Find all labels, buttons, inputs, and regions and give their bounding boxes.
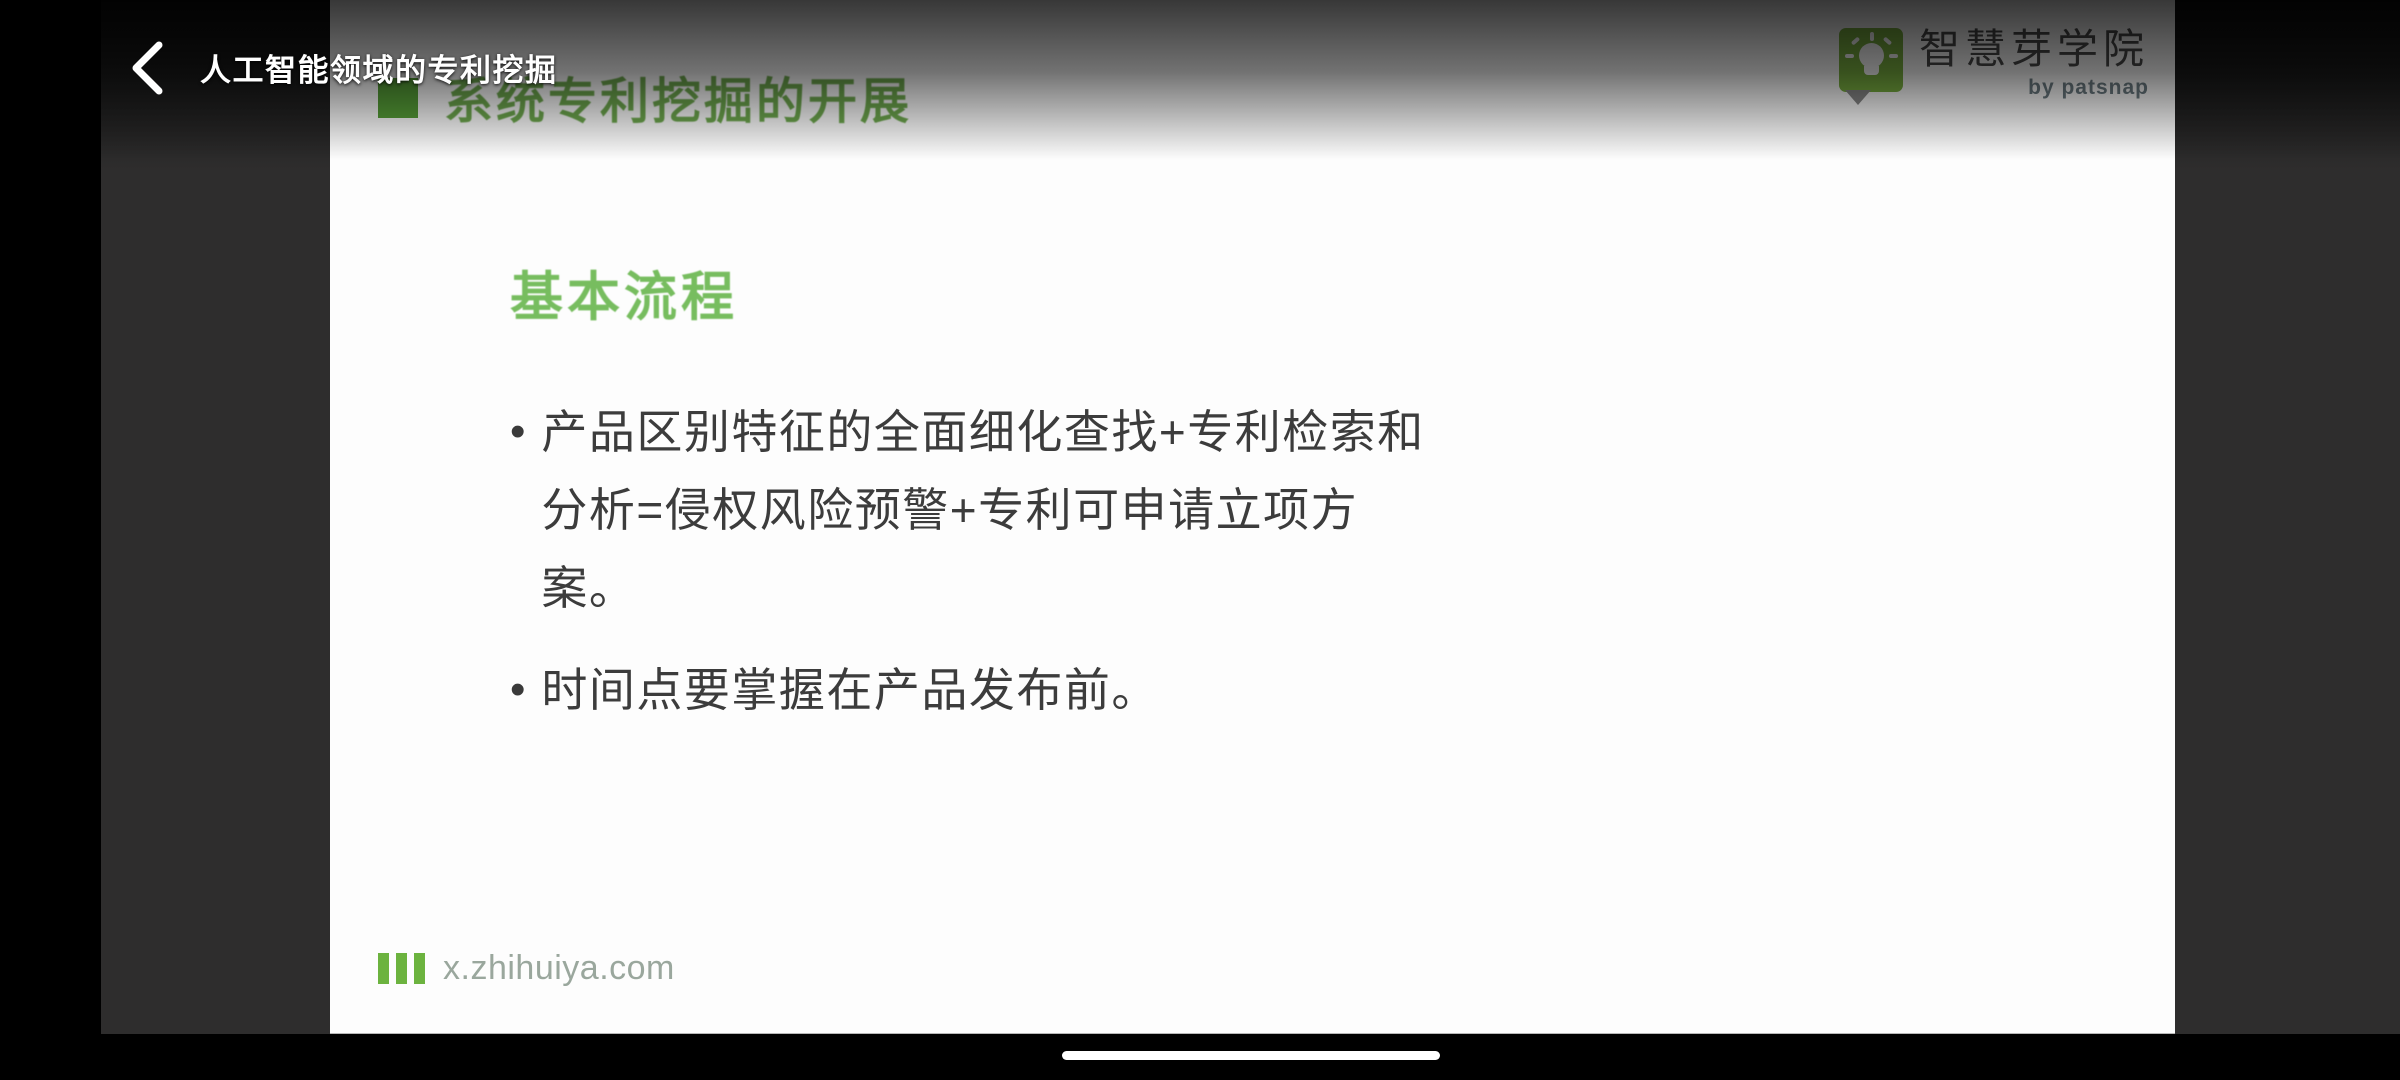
nav-title: 人工智能领域的专利挖掘 — [200, 45, 558, 90]
bullet-text: 产品区别特征的全面细化查找+专利检索和分析=侵权风险预警+专利可申请立项方案。 — [541, 393, 1446, 627]
three-bars-icon — [378, 953, 425, 984]
back-button[interactable] — [118, 38, 178, 98]
chevron-left-icon — [126, 39, 170, 97]
section-heading: 基本流程 — [510, 255, 2085, 331]
slide-footer: x.zhihuiya.com — [378, 949, 675, 988]
bullet-dot-icon: • — [510, 651, 525, 729]
bullet-text: 时间点要掌握在产品发布前。 — [541, 651, 1159, 729]
bullet-dot-icon: • — [510, 393, 525, 471]
nav-bar: 人工智能领域的专利挖掘 — [0, 0, 2400, 160]
home-indicator[interactable] — [1062, 1051, 1440, 1060]
bullet-list: • 产品区别特征的全面细化查找+专利检索和分析=侵权风险预警+专利可申请立项方案… — [510, 393, 2085, 729]
list-item: • 产品区别特征的全面细化查找+专利检索和分析=侵权风险预警+专利可申请立项方案… — [510, 393, 2085, 627]
app-screen: 系统专利挖掘的开展 智慧芽学院 by patsnap — [0, 0, 2400, 1080]
footer-url: x.zhihuiya.com — [443, 949, 675, 988]
left-safe-area — [0, 0, 101, 1080]
list-item: • 时间点要掌握在产品发布前。 — [510, 651, 2085, 729]
system-bottom-bar — [0, 1034, 2400, 1080]
slide-body: 基本流程 • 产品区别特征的全面细化查找+专利检索和分析=侵权风险预警+专利可申… — [510, 255, 2085, 753]
